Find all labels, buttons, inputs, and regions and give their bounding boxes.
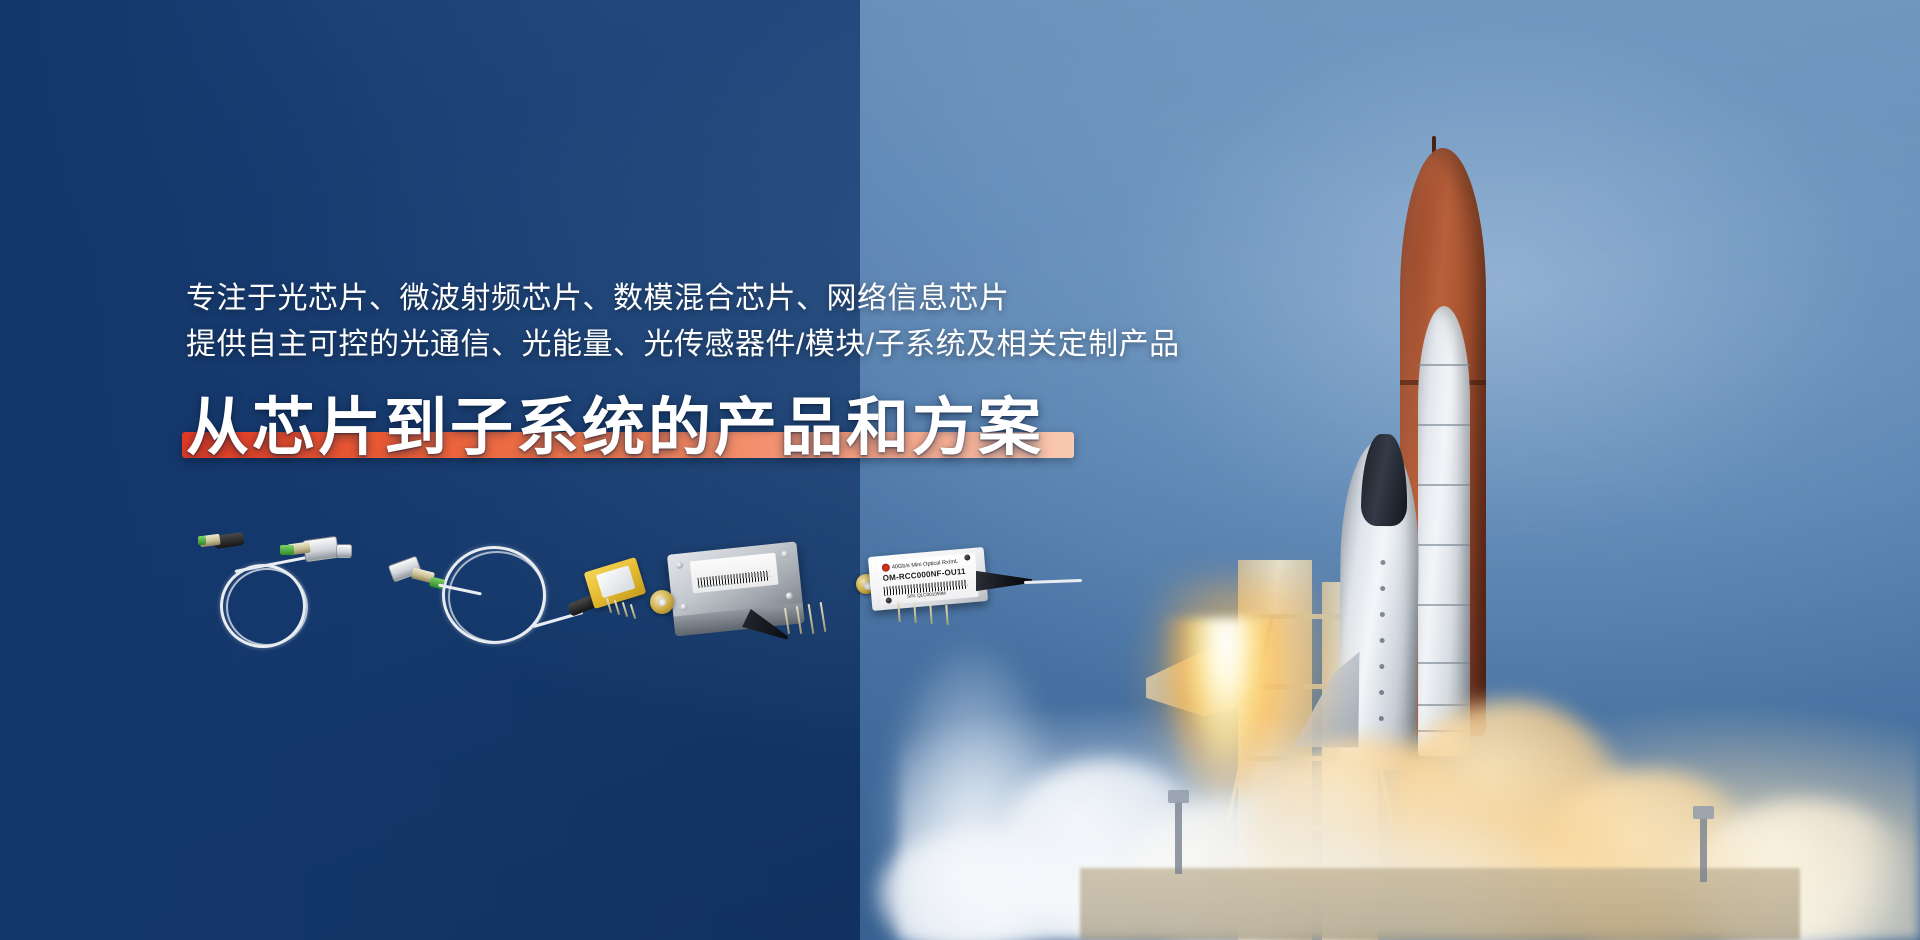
sma-connector-icon [650, 590, 674, 614]
pad-light-mast [1175, 802, 1182, 874]
output-fiber [1024, 579, 1082, 584]
subtitle-line-2: 提供自主可控的光通信、光能量、光传感器件/模块/子系统及相关定制产品 [186, 322, 1180, 368]
barcode-icon [697, 570, 770, 587]
vendor-logo-icon [882, 563, 891, 572]
hero-copy: 专注于光芯片、微波射频芯片、数模混合芯片、网络信息芯片 提供自主可控的光通信、光… [186, 276, 1180, 464]
subtitle-line-1: 专注于光芯片、微波射频芯片、数模混合芯片、网络信息芯片 [186, 276, 1180, 322]
hero-banner: 专注于光芯片、微波射频芯片、数模混合芯片、网络信息芯片 提供自主可控的光通信、光… [0, 0, 1920, 940]
page-title: 从芯片到子系统的产品和方案 [186, 393, 1044, 464]
rf-module-housing [667, 541, 803, 620]
receiver-label: 40Gb/s Mini Optical Rx/mL OM-RCC000NF-OU… [877, 553, 978, 605]
pad-light-mast [1700, 818, 1707, 882]
product-optical-receiver-module: 40Gb/s Mini Optical Rx/mL OM-RCC000NF-OU… [856, 544, 1076, 660]
headline-block: 从芯片到子系统的产品和方案 [186, 393, 1044, 464]
product-showcase-row: 40Gb/s Mini Optical Rx/mL OM-RCC000NF-OU… [196, 528, 1076, 668]
product-rf-metal-module [648, 542, 848, 658]
product-fiber-pigtail-connector [196, 528, 376, 658]
receiver-housing: 40Gb/s Mini Optical Rx/mL OM-RCC000NF-OU… [868, 547, 988, 611]
product-butterfly-laser-module [382, 536, 632, 662]
module-label [690, 553, 779, 594]
launch-pad-deck [1080, 868, 1800, 940]
